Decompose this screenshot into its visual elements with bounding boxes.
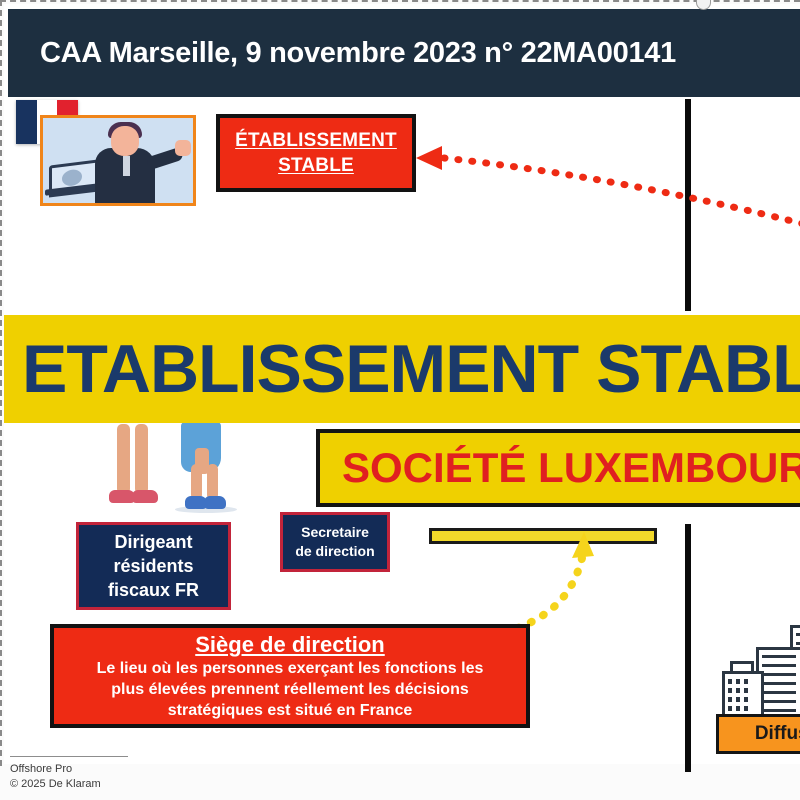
societe-banner[interactable]: SOCIÉTÉ LUXEMBOURGEOISE <box>316 429 800 507</box>
diffusion-label: Diffusion <box>755 723 800 745</box>
slide-editor-canvas: CAA Marseille, 9 novembre 2023 n° 22MA00… <box>0 0 800 800</box>
footer: Offshore Pro © 2025 De Klaram <box>8 756 308 792</box>
office-buildings-icon <box>722 619 800 729</box>
etablissement-stable-line-1: ÉTABLISSEMENT <box>235 128 397 153</box>
footer-divider <box>10 756 128 757</box>
siege-line-2: plus élevées prennent réellement les déc… <box>111 679 468 700</box>
siege-line-1: Le lieu où les personnes exerçant les fo… <box>97 658 484 679</box>
presenter-hand <box>175 140 191 156</box>
dirigeant-box[interactable]: Dirigeant résidents fiscaux FR <box>76 522 231 610</box>
dirigeant-line-2: résidents <box>113 554 193 578</box>
main-yellow-banner[interactable]: ETABLISSEMENT STABLE <box>4 315 800 423</box>
main-banner-text: ETABLISSEMENT STABLE <box>22 330 800 408</box>
page-title: CAA Marseille, 9 novembre 2023 n° 22MA00… <box>40 37 676 70</box>
presenter-illustration[interactable] <box>40 115 196 206</box>
red-dotted-arrow <box>414 132 800 242</box>
presenter-head <box>111 126 139 156</box>
etablissement-stable-box[interactable]: ÉTABLISSEMENT STABLE <box>216 114 416 192</box>
secretaire-box[interactable]: Secretaire de direction <box>280 512 390 572</box>
two-people-illustration <box>99 424 239 534</box>
dirigeant-line-3: fiscaux FR <box>108 578 199 602</box>
footer-copyright: © 2025 De Klaram <box>10 777 308 792</box>
secretaire-line-1: Secretaire <box>301 523 369 542</box>
header-banner[interactable]: CAA Marseille, 9 novembre 2023 n° 22MA00… <box>8 9 800 97</box>
siege-line-3: stratégiques est situé en France <box>168 700 413 721</box>
yellow-dotted-arrow <box>514 524 624 634</box>
slide-canvas[interactable]: CAA Marseille, 9 novembre 2023 n° 22MA00… <box>4 4 800 764</box>
siege-title: Siège de direction <box>195 631 385 658</box>
diffusion-box[interactable]: Diffusion <box>716 714 800 754</box>
secretaire-line-2: de direction <box>295 542 374 561</box>
footer-brand: Offshore Pro <box>10 762 308 777</box>
etablissement-stable-line-2: STABLE <box>278 153 354 178</box>
presenter-tie <box>123 156 130 176</box>
societe-banner-text: SOCIÉTÉ LUXEMBOURGEOISE <box>342 444 800 492</box>
vertical-divider-bottom <box>685 524 691 772</box>
dirigeant-line-1: Dirigeant <box>114 530 192 554</box>
siege-de-direction-box[interactable]: Siège de direction Le lieu où les person… <box>50 624 530 728</box>
